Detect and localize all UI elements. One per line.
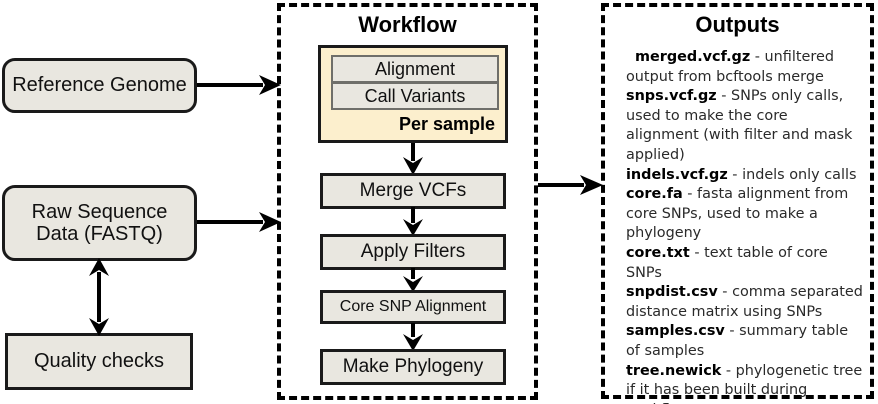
output-file-name: indels.vcf.gz (626, 167, 728, 183)
arrow-reference-genome-to-workflow (195, 70, 285, 102)
output-file-name: snps.vcf.gz (626, 88, 717, 104)
node-core-snp-alignment: Core SNP Alignment (320, 290, 506, 324)
node-merge-vcfs-label: Merge VCFs (360, 180, 467, 201)
output-file-entry: merged.vcf.gz - unfiltered output from b… (626, 48, 864, 87)
output-file-name: samples.csv (626, 323, 725, 339)
arrow-quality-checks-bidirectional (84, 258, 116, 336)
arrow-raw-sequence-to-workflow (195, 207, 285, 239)
output-file-description: - indels only calls (728, 167, 857, 183)
output-file-entry: snps.vcf.gz - SNPs only calls, used to m… (626, 87, 864, 165)
node-core-snp-alignment-label: Core SNP Alignment (340, 298, 486, 316)
output-file-name: merged.vcf.gz (635, 49, 750, 65)
node-make-phylogeny: Make Phylogeny (320, 349, 506, 385)
panel-workflow-title: Workflow (277, 12, 538, 38)
node-merge-vcfs: Merge VCFs (320, 173, 506, 209)
node-call-variants: Call Variants (331, 82, 499, 110)
output-file-entry: core.fa - fasta alignment from core SNPs… (626, 185, 864, 244)
output-file-entry: samples.csv - summary table of samples (626, 322, 864, 361)
output-file-name: core.txt (626, 245, 690, 261)
node-quality-checks-label: Quality checks (34, 350, 164, 372)
outputs-file-list: merged.vcf.gz - unfiltered output from b… (626, 48, 864, 404)
raw-sequence-line-2: Data (FASTQ) (36, 223, 163, 245)
output-file-entry: indels.vcf.gz - indels only calls (626, 166, 864, 186)
node-make-phylogeny-label: Make Phylogeny (343, 356, 483, 377)
node-raw-sequence-data-label: Raw Sequence Data (FASTQ) (32, 201, 168, 246)
node-alignment: Alignment (331, 55, 499, 83)
output-file-name: snpdist.csv (626, 284, 718, 300)
node-apply-filters: Apply Filters (320, 234, 506, 270)
node-reference-genome-label: Reference Genome (12, 74, 187, 96)
output-file-entry: core.txt - text table of core SNPs (626, 244, 864, 283)
label-per-sample: Per sample (399, 114, 495, 135)
node-reference-genome: Reference Genome (2, 58, 197, 113)
node-quality-checks: Quality checks (5, 333, 193, 390)
output-file-name: tree.newick (626, 363, 721, 379)
workflow-diagram: Reference Genome Raw Sequence Data (FAST… (0, 0, 878, 404)
raw-sequence-line-1: Raw Sequence (32, 201, 168, 223)
panel-outputs-title: Outputs (601, 12, 874, 38)
group-per-sample: Alignment Call Variants Per sample (318, 45, 508, 143)
output-file-entry: snpdist.csv - comma separated distance m… (626, 283, 864, 322)
node-raw-sequence-data: Raw Sequence Data (FASTQ) (2, 185, 197, 261)
node-apply-filters-label: Apply Filters (361, 241, 466, 262)
arrow-workflow-to-outputs (538, 170, 608, 202)
node-call-variants-label: Call Variants (365, 86, 466, 107)
output-file-name: core.fa (626, 186, 683, 202)
node-alignment-label: Alignment (375, 59, 455, 80)
output-file-entry: tree.newick - phylogenetic tree if it ha… (626, 362, 864, 404)
